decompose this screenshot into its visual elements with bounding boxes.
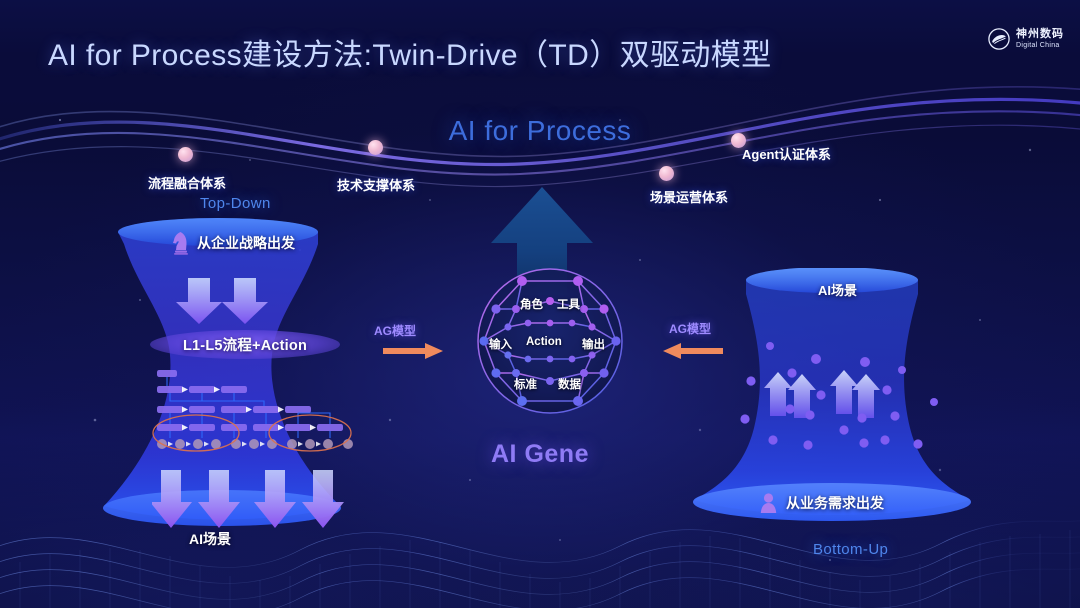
slide-canvas: AI for Process建设方法:Twin-Drive（TD）双驱动模型 神… [0, 0, 1080, 608]
strategy-origin-label: 从企业战略出发 [197, 233, 295, 253]
hex-label-input: 输入 [489, 336, 512, 352]
hex-label-output: 输出 [582, 336, 605, 352]
scatter-dots-icon [740, 340, 960, 475]
hex-label-tool: 工具 [557, 296, 580, 312]
ag-arrow-right-icon [383, 342, 443, 360]
hex-label-data: 数据 [558, 376, 581, 392]
hex-label-role: 角色 [520, 296, 543, 312]
hex-label-standard: 标准 [514, 376, 537, 392]
chess-knight-icon [172, 231, 189, 255]
page-title: AI for Process建设方法:Twin-Drive（TD）双驱动模型 [48, 30, 772, 74]
brand-name-cn: 神州数码 [1016, 29, 1064, 40]
process-flowchart-icon [152, 368, 362, 458]
brand-name-en: Digital China [1016, 42, 1064, 49]
hex-label-action: Action [526, 336, 562, 348]
ag-model-label-left: AG模型 [374, 322, 416, 339]
left-funnel-bottom-arrows [152, 470, 352, 528]
left-funnel-down-arrows [176, 278, 268, 324]
business-origin-group: 从业务需求出发 [760, 493, 884, 513]
right-mode-label: Bottom-Up [813, 541, 888, 558]
right-funnel-cap-label: AI场景 [818, 280, 857, 299]
strategy-origin-group: 从企业战略出发 [172, 231, 295, 255]
left-mode-label: Top-Down [200, 195, 271, 212]
left-funnel-bottom-label: AI场景 [0, 529, 420, 549]
brand-logo: 神州数码 Digital China [988, 28, 1064, 50]
ai-for-process-title: AI for Process [0, 115, 1080, 147]
curve-label-tech-support: 技术支撑体系 [337, 175, 415, 194]
l1-l5-pill: L1-L5流程+Action [150, 330, 340, 359]
user-person-icon [760, 493, 777, 513]
curve-label-process-fusion: 流程融合体系 [148, 173, 226, 192]
business-origin-label: 从业务需求出发 [786, 493, 884, 513]
curve-node-dot-process-fusion [178, 147, 193, 162]
l1-l5-label: L1-L5流程+Action [183, 334, 307, 355]
curve-label-scene-operation: 场景运营体系 [650, 187, 728, 206]
curve-node-dot-scene-operation [659, 166, 674, 181]
swirl-logo-icon [988, 28, 1010, 50]
